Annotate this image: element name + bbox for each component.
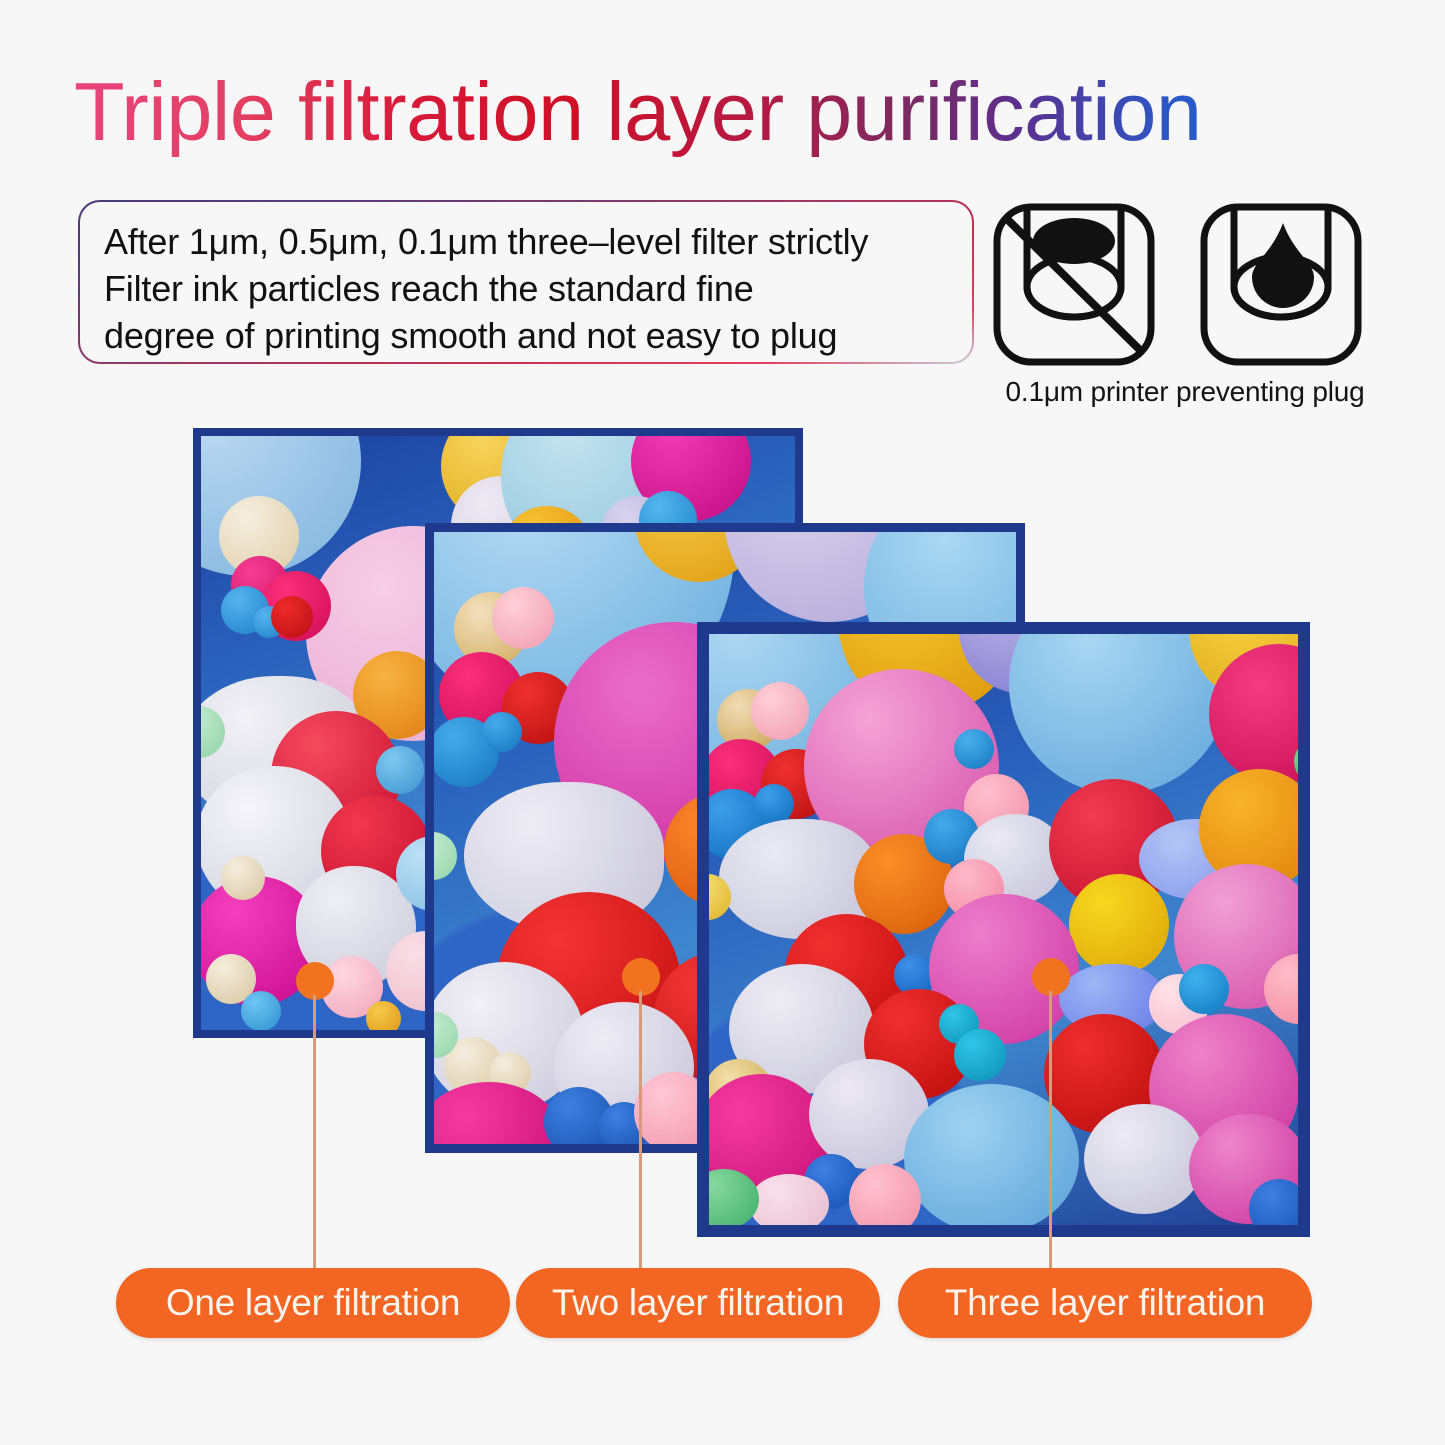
description-line-1: After 1μm, 0.5μm, 0.1μm three–level filt…: [104, 218, 950, 265]
marker-line-two-layer: [639, 991, 642, 1273]
label-three-layer-filtration[interactable]: Three layer filtration: [898, 1268, 1312, 1338]
description-line-3: degree of printing smooth and not easy t…: [104, 312, 950, 359]
three-layer-filtration-sample: [697, 622, 1310, 1237]
marker-line-three-layer: [1049, 991, 1052, 1273]
icon-caption: 0.1μm printer preventing plug: [985, 376, 1385, 408]
icon-badge-group: [991, 201, 1381, 373]
description-callout: After 1μm, 0.5μm, 0.1μm three–level filt…: [78, 200, 974, 364]
label-two-layer-filtration[interactable]: Two layer filtration: [516, 1268, 880, 1338]
ink-droplet-nozzle-icon: [1198, 201, 1364, 368]
marker-line-one-layer: [313, 995, 316, 1273]
infographic-root: Triple filtration layer purification Aft…: [0, 0, 1445, 1445]
label-one-layer-filtration[interactable]: One layer filtration: [116, 1268, 510, 1338]
clogged-nozzle-prohibited-icon: [991, 201, 1157, 368]
description-callout-body: After 1μm, 0.5μm, 0.1μm three–level filt…: [80, 202, 972, 362]
description-line-2: Filter ink particles reach the standard …: [104, 265, 950, 312]
page-title: Triple filtration layer purification: [74, 62, 1384, 162]
